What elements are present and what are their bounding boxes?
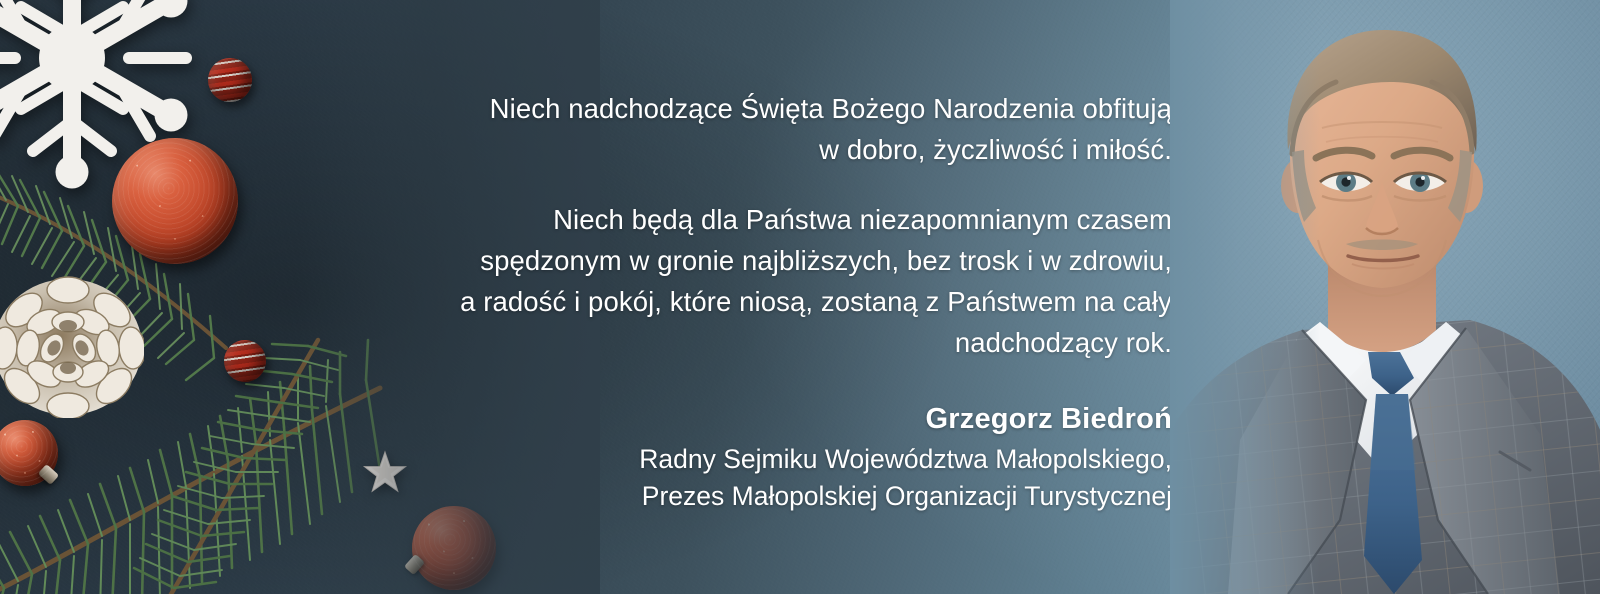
paragraph-1: Niech nadchodzące Święta Bożego Narodzen… <box>380 88 1172 170</box>
paragraph-2: Niech będą dla Państwa niezapomnianym cz… <box>380 199 1172 363</box>
paragraph-2-line-3: a radość i pokój, które niosą, zostaną z… <box>460 286 1172 317</box>
paragraph-1-line-1: Niech nadchodzące Święta Bożego Narodzen… <box>490 93 1172 124</box>
signature-name: Grzegorz Biedroń <box>380 401 1172 437</box>
paragraph-2-line-2: spędzonym w gronie najbliższych, bez tro… <box>480 245 1172 276</box>
signature-role: Radny Sejmiku Województwa Małopolskiego,… <box>380 441 1172 515</box>
paragraph-2-line-1: Niech będą dla Państwa niezapomnianym cz… <box>553 204 1172 235</box>
portrait-left-feather <box>1170 0 1320 594</box>
paragraph-2-line-4: nadchodzący rok. <box>955 327 1172 358</box>
signature-block: Grzegorz Biedroń Radny Sejmiku Województ… <box>380 401 1172 515</box>
greeting-message: Niech nadchodzące Święta Bożego Narodzen… <box>380 88 1172 515</box>
signature-role-line-2: Prezes Małopolskiej Organizacji Turystyc… <box>642 481 1172 511</box>
portrait-photo <box>1170 0 1600 594</box>
greeting-card: Niech nadchodzące Święta Bożego Narodzen… <box>0 0 1600 594</box>
paragraph-1-line-2: w dobro, życzliwość i miłość. <box>819 134 1172 165</box>
signature-role-line-1: Radny Sejmiku Województwa Małopolskiego, <box>639 444 1172 474</box>
